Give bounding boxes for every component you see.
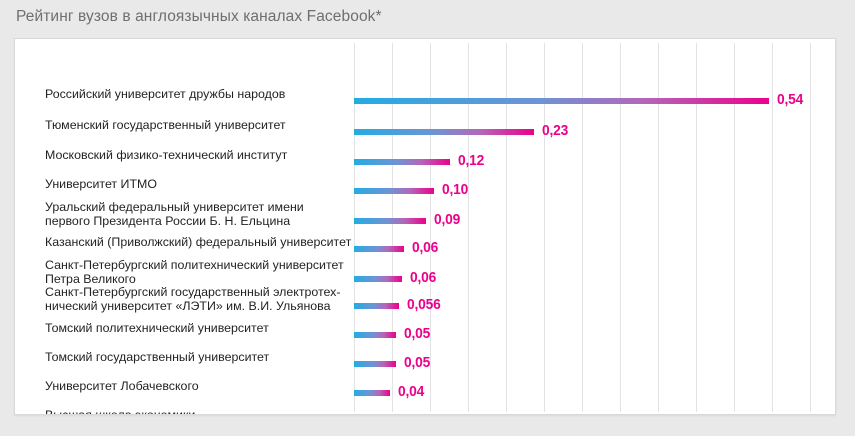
bar-category-label: Университет ИТМО	[45, 177, 355, 191]
bar-value-label: 0,10	[442, 181, 468, 198]
bar-category-label: Томский политехнический университет	[45, 321, 355, 335]
page-title: Рейтинг вузов в англоязычных каналах Fac…	[16, 8, 382, 26]
bar-category-label: Московский физико-технический институт	[45, 148, 355, 162]
bar-value-label: 0,09	[434, 211, 460, 228]
bar-category-label: Тюменский государственный университет	[45, 118, 355, 132]
bar-category-label: Высшая школа экономики	[45, 408, 355, 415]
bar-value-label: 0,05	[404, 325, 430, 342]
bar-value-label: 0,54	[777, 91, 803, 108]
bar	[354, 188, 434, 194]
chart-card: Российский университет дружбы народов0,5…	[14, 38, 836, 415]
chart-rows: Российский университет дружбы народов0,5…	[15, 39, 836, 415]
bar	[354, 361, 396, 367]
bar	[354, 246, 404, 252]
bar	[354, 332, 396, 338]
bar-category-label: Уральский федеральный университет имени …	[45, 200, 355, 228]
bar	[354, 218, 426, 224]
bar-category-label: Томский государственный университет	[45, 350, 355, 364]
bar	[354, 303, 399, 309]
bar-value-label: 0,056	[407, 296, 441, 313]
bar-category-label: Казанский (Приволжский) федеральный унив…	[45, 235, 355, 249]
bar	[354, 390, 390, 396]
bar-value-label: 0,03	[392, 412, 418, 415]
bar-value-label: 0,06	[410, 269, 436, 286]
bar-category-label: Санкт-Петербургский государственный элек…	[45, 285, 355, 313]
bar-value-label: 0,23	[542, 122, 568, 139]
bar-value-label: 0,12	[458, 152, 484, 169]
bar-value-label: 0,05	[404, 354, 430, 371]
bar-category-label: Университет Лобачевского	[45, 379, 355, 393]
bar-value-label: 0,04	[398, 383, 424, 400]
bar	[354, 98, 769, 104]
bar	[354, 276, 402, 282]
bar-category-label: Санкт-Петербургский политехнический унив…	[45, 258, 355, 286]
bar-category-label: Российский университет дружбы народов	[45, 87, 355, 101]
bar-value-label: 0,06	[412, 239, 438, 256]
bar	[354, 159, 450, 165]
bar	[354, 129, 534, 135]
